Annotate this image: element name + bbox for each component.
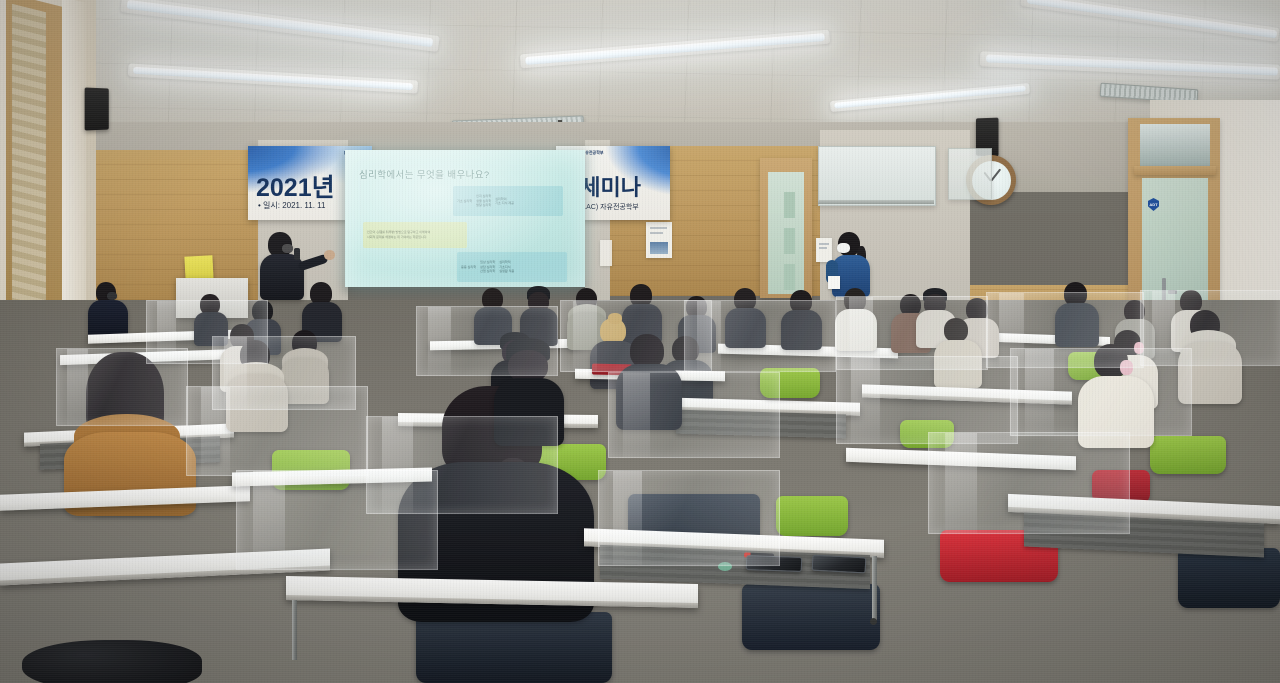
- torso: [194, 312, 228, 346]
- desk-leg: [292, 600, 297, 660]
- poster-2: [816, 238, 832, 262]
- torso: [835, 309, 877, 351]
- interior-door-glass-panel-2: [784, 228, 795, 254]
- black-bag: [22, 640, 202, 683]
- interior-door-glass-panel-3: [784, 264, 795, 290]
- torso: [494, 378, 564, 446]
- yellow-board: [184, 255, 213, 280]
- slide-cell: 발달 심리학: [476, 203, 491, 207]
- slide-cell: 심리학의 기초 지식 제공: [495, 197, 514, 206]
- smartphone-1[interactable]: [746, 555, 802, 572]
- desk-panel: [676, 410, 846, 439]
- chair-navy[interactable]: [742, 584, 880, 650]
- poster-line: [819, 243, 829, 245]
- adt-badge-label: ADT: [1149, 202, 1157, 207]
- slide-cell: 심리학적 기초지식 실생활 적용: [499, 260, 514, 273]
- head: [630, 334, 664, 368]
- poster-1: [646, 222, 672, 258]
- poster-3: [600, 240, 612, 266]
- left-window-glass: [12, 4, 46, 342]
- head: [944, 318, 968, 342]
- poster-line: [650, 232, 663, 234]
- whiteboard-rail: [818, 200, 934, 204]
- head: [672, 336, 699, 363]
- bun: [608, 313, 622, 324]
- poster-line: [819, 247, 827, 249]
- chair-navy[interactable]: [1178, 548, 1280, 608]
- banner-left-detail: • 일시: 2021. 11. 11: [258, 200, 326, 211]
- slide-box-3: 응용 심리학 임상 심리학 상담 심리학 산업 심리학 심리학적 기초지식 실생…: [457, 252, 567, 282]
- torso: [616, 364, 682, 430]
- desk-caster: [870, 618, 877, 625]
- interior-door-glass-panel-1: [784, 192, 795, 218]
- torso: [725, 308, 766, 348]
- wall-speaker-left: [85, 87, 109, 130]
- chair-green[interactable]: [1150, 436, 1226, 474]
- door-transom-rail: [1134, 166, 1216, 175]
- torso: [281, 358, 329, 404]
- chair-green[interactable]: [776, 496, 848, 536]
- hair-clip: [1134, 342, 1144, 354]
- staff-held-item: [828, 276, 840, 289]
- presenter-mask: [282, 244, 293, 253]
- slide-box-2: 인간의 心理를 科學的 방법으로 탐구하고 이해하여 사회적 문제를 해결하는 …: [363, 222, 467, 248]
- slide-cell: 기초 심리학: [457, 199, 472, 203]
- slide-paragraph: 인간의 心理를 科學的 방법으로 탐구하고 이해하여 사회적 문제를 해결하는 …: [367, 230, 430, 239]
- projection-screen: 심리학에서는 무엇을 배우나요? 기초 심리학 인지 심리학 생물 심리학 발달…: [345, 150, 585, 287]
- door-latch[interactable]: [1168, 290, 1177, 294]
- face-mask: [107, 292, 117, 300]
- lecture-hall-photo: ADT 대구대학교 2021년 • 일시: 2021. 11. 11 대구대학교…: [0, 0, 1280, 683]
- torso: [1055, 303, 1099, 347]
- green-sticker: [718, 562, 732, 571]
- microphone: [294, 248, 300, 260]
- torso: [1178, 342, 1242, 404]
- poster-thumbnail: [650, 242, 668, 254]
- presenter-torso: [260, 254, 304, 300]
- slide-title: 심리학에서는 무엇을 배우나요?: [359, 167, 490, 181]
- slide-box-1: 기초 심리학 인지 심리학 생물 심리학 발달 심리학 심리학의 기초 지식 제…: [453, 186, 563, 216]
- torso: [1078, 376, 1154, 448]
- torso: [226, 374, 288, 432]
- banner-left-headline: 2021년: [256, 168, 335, 204]
- chair-green[interactable]: [900, 420, 954, 448]
- whiteboard-far-right: [948, 148, 992, 200]
- poster-line: [650, 227, 667, 229]
- slide-cell: 응용 심리학: [461, 265, 476, 269]
- slide-cell: 산업 심리학: [480, 269, 495, 273]
- hair-clip: [1120, 360, 1133, 375]
- torso: [781, 310, 822, 350]
- torso: [934, 340, 982, 388]
- chair-navy[interactable]: [416, 612, 612, 683]
- presenter-hand: [324, 250, 335, 260]
- staff-mask: [837, 243, 850, 253]
- desk-leg: [872, 556, 877, 620]
- chair-green[interactable]: [760, 368, 820, 398]
- door-transom-window: [1140, 124, 1210, 166]
- smartphone-2[interactable]: [812, 555, 867, 574]
- whiteboard-right: [818, 146, 936, 206]
